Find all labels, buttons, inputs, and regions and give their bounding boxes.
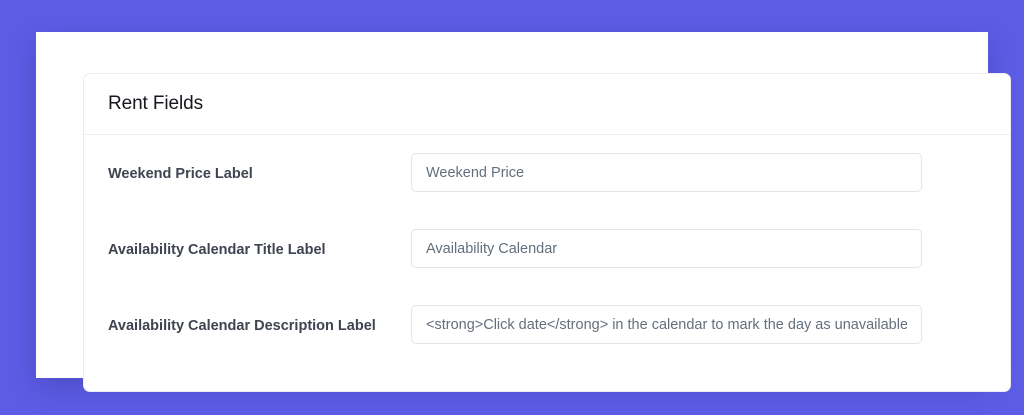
label-availability-calendar-title: Availability Calendar Title Label <box>108 229 411 260</box>
input-weekend-price[interactable] <box>411 153 922 192</box>
form-row-weekend-price: Weekend Price Label <box>108 153 986 192</box>
control-weekend-price <box>411 153 922 192</box>
label-availability-calendar-description: Availability Calendar Description Label <box>108 305 411 336</box>
input-availability-calendar-description[interactable] <box>411 305 922 344</box>
card-body: Weekend Price Label Availability Calenda… <box>84 135 1010 344</box>
form-row-availability-calendar-description: Availability Calendar Description Label <box>108 305 986 344</box>
input-availability-calendar-title[interactable] <box>411 229 922 268</box>
control-availability-calendar-description <box>411 305 922 344</box>
page-title: Rent Fields <box>108 93 203 115</box>
label-weekend-price: Weekend Price Label <box>108 153 411 184</box>
card-header: Rent Fields <box>84 74 1010 135</box>
form-row-availability-calendar-title: Availability Calendar Title Label <box>108 229 986 268</box>
rent-fields-card: Rent Fields Weekend Price Label Availabi… <box>83 73 1011 392</box>
settings-panel: Rent Fields Weekend Price Label Availabi… <box>36 32 988 378</box>
control-availability-calendar-title <box>411 229 922 268</box>
